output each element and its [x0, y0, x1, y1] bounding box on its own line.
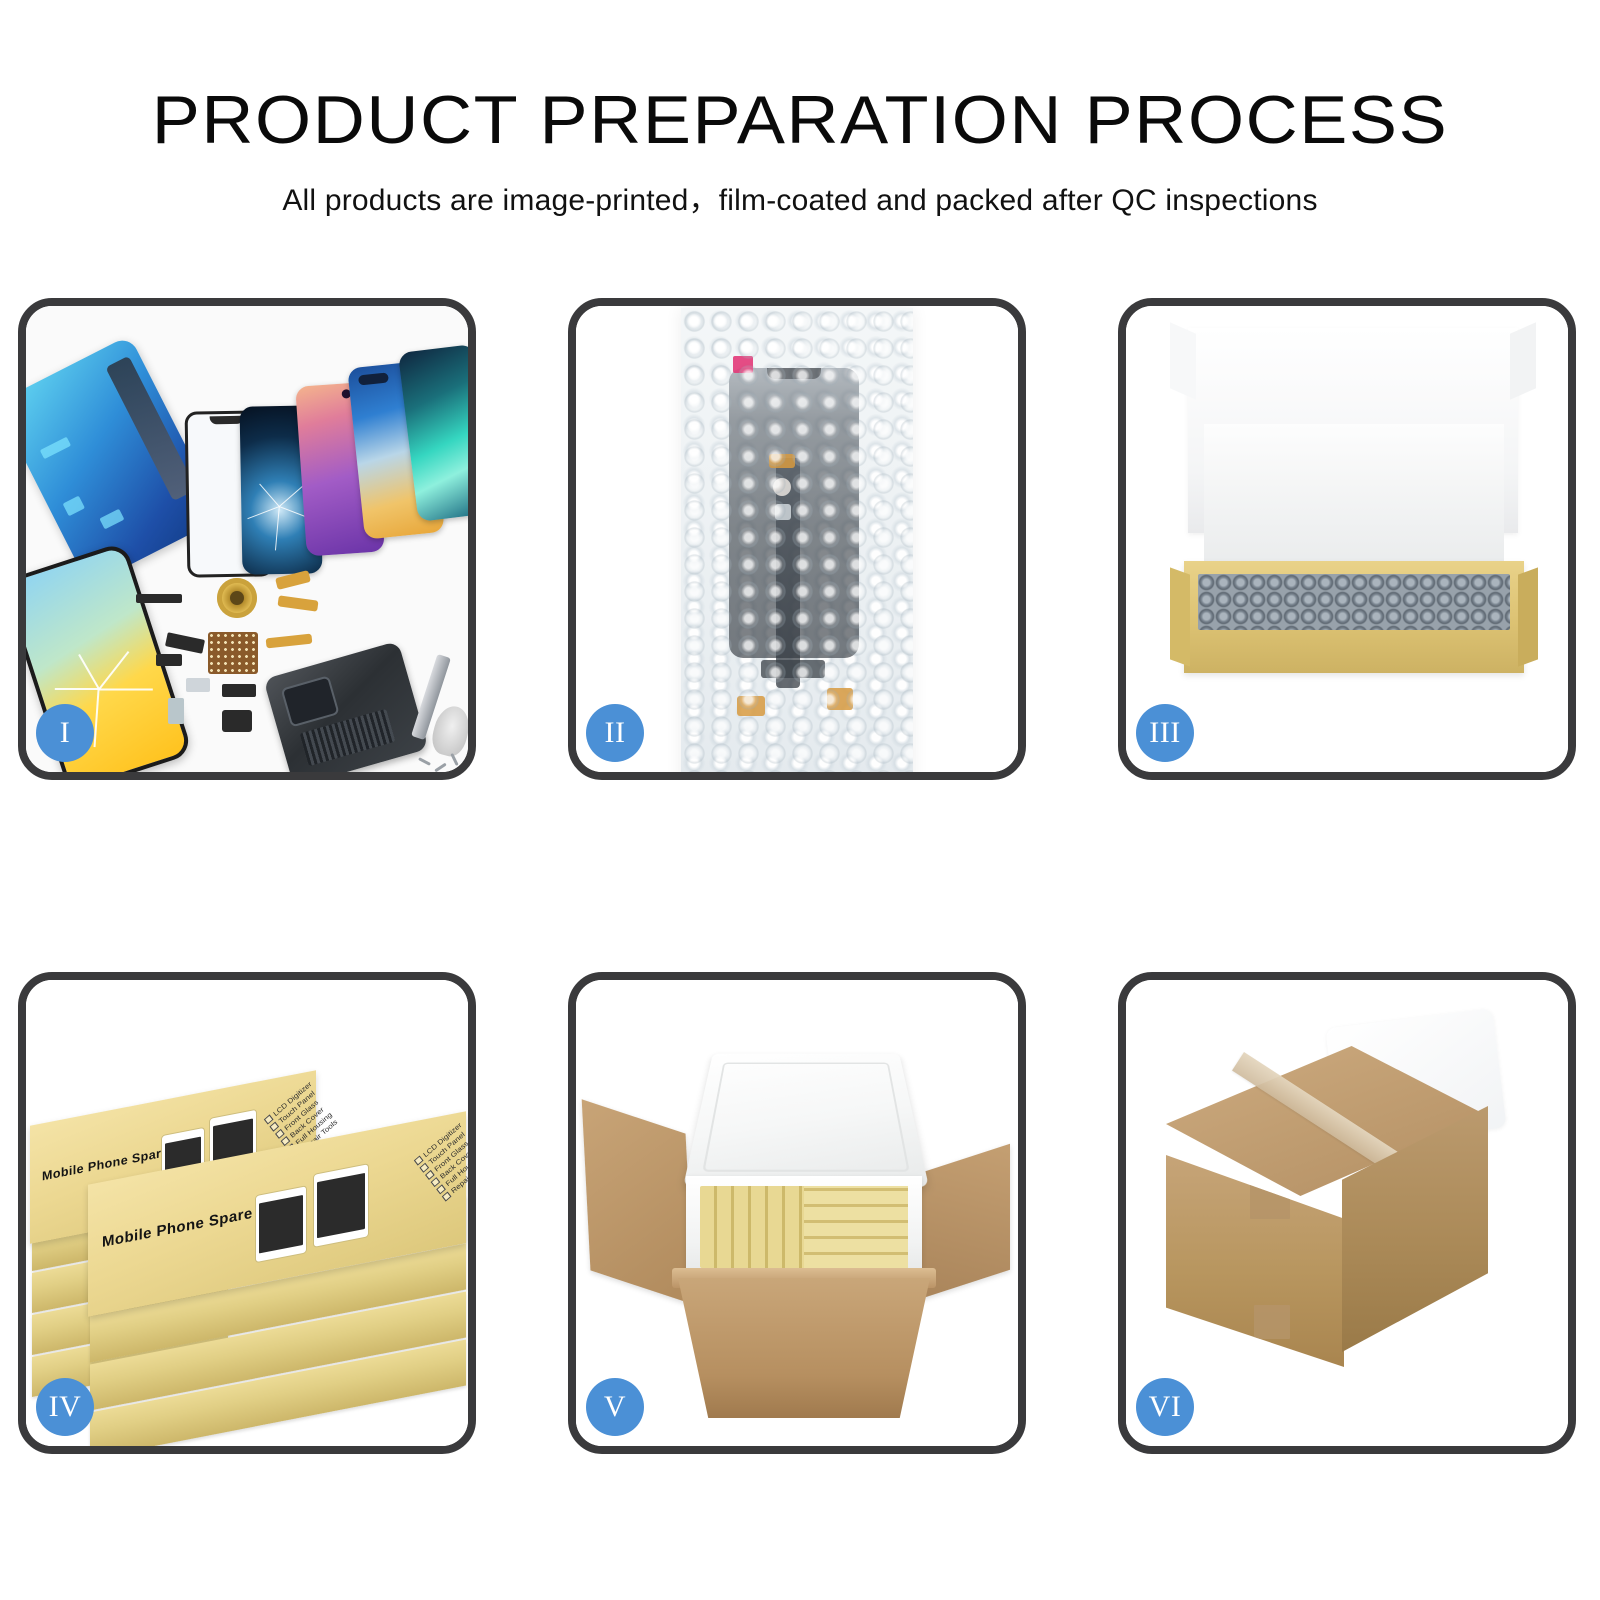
retail-box-checklist-front: LCD Digitizer Touch Panel Front Glass Ba…	[413, 1121, 468, 1203]
process-step-4: Mobile Phone Spare Parts LCD Digitizer T…	[18, 972, 476, 1454]
step-badge-5: V	[586, 1378, 644, 1436]
process-step-6: VI	[1118, 972, 1576, 1454]
connector-3	[775, 504, 791, 520]
step-5-image	[576, 980, 1018, 1446]
step-badge-2: II	[586, 704, 644, 762]
step-badge-4: IV	[36, 1378, 94, 1436]
vibrator-motor	[186, 678, 210, 692]
step-4-image: Mobile Phone Spare Parts LCD Digitizer T…	[26, 980, 468, 1446]
grey-bubble-wrap-filling	[1198, 574, 1510, 630]
step-1-image	[26, 306, 468, 772]
qc-sticker	[733, 356, 753, 373]
bubble-wrapped-package	[681, 308, 913, 772]
home-button-flex	[761, 660, 825, 678]
styrofoam-lid	[683, 1053, 929, 1187]
small-module-1	[156, 654, 182, 666]
process-step-1: I	[18, 298, 476, 780]
screwdriver-bits	[418, 756, 468, 772]
gold-boxes-row-right	[804, 1186, 908, 1268]
battery-connector	[222, 684, 256, 697]
step-3-image	[1126, 306, 1568, 772]
speaker-module	[222, 710, 252, 732]
process-step-2: II	[568, 298, 1026, 780]
process-step-5: V	[568, 972, 1026, 1454]
ic-chip-array	[208, 632, 258, 674]
sim-tray	[168, 698, 184, 724]
step-badge-3: III	[1136, 704, 1194, 762]
white-foam-sheet	[1204, 424, 1504, 572]
box-screen-image-3	[256, 1186, 306, 1262]
connector-2	[773, 478, 791, 496]
tape-patch-bottom	[1254, 1305, 1290, 1339]
connector-5	[827, 688, 853, 710]
checkbox-icon	[442, 1192, 452, 1202]
step-6-image	[1126, 980, 1568, 1446]
wireless-charging-coil	[217, 578, 257, 618]
earpiece-mesh	[136, 594, 182, 603]
connector-1	[769, 454, 795, 468]
infographic-page: PRODUCT PREPARATION PROCESS All products…	[0, 0, 1600, 1600]
carton-body	[678, 1278, 930, 1418]
step-2-image	[576, 306, 1018, 772]
step-badge-1: I	[36, 704, 94, 762]
connector-4	[737, 696, 765, 716]
step-badge-6: VI	[1136, 1378, 1194, 1436]
process-grid: I II	[0, 0, 1600, 1600]
box-screen-image-4	[314, 1164, 368, 1246]
process-step-3: III	[1118, 298, 1576, 780]
